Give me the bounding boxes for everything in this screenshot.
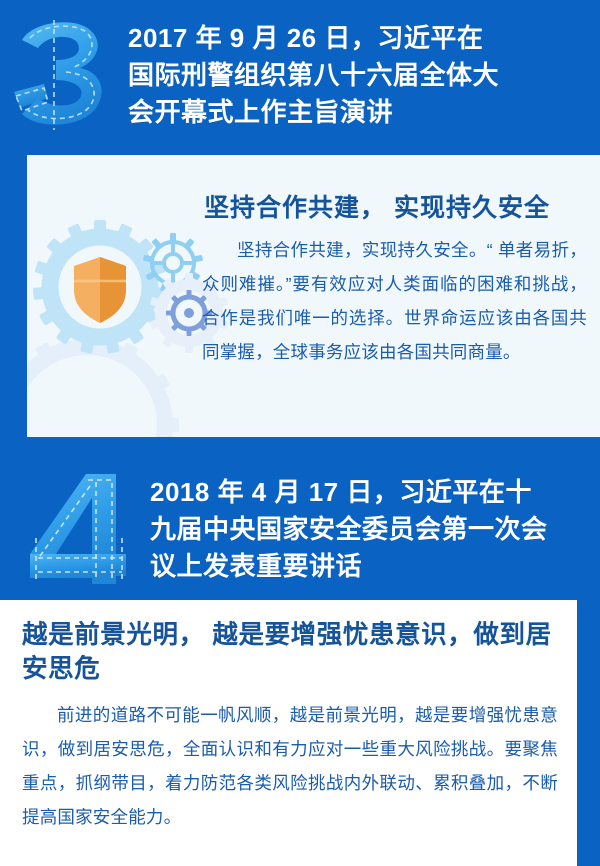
card-body-3: 坚持合作共建，实现持久安全。“ 单者易折，众则难摧。”要有效应对人类面临的困难和… xyxy=(202,233,587,370)
card-heading-4: 越是前景光明， 越是要增强忧患意识，做到居安思危 xyxy=(22,618,562,687)
shield-icon xyxy=(74,257,126,323)
large-gear-icon xyxy=(33,220,168,354)
section-title-4: 2018 年 4 月 17 日，习近平在十 九届中央国家安全委员会第一次会 议上… xyxy=(150,468,600,585)
section-title-3: 2017 年 9 月 26 日，习近平在 国际刑警组织第八十六届全体大 会开幕式… xyxy=(128,14,590,131)
infographic-page: 2017 年 9 月 26 日，习近平在 国际刑警组织第八十六届全体大 会开幕式… xyxy=(0,0,600,866)
section-header-3: 2017 年 9 月 26 日，习近平在 国际刑警组织第八十六届全体大 会开幕式… xyxy=(8,14,600,134)
card-section-3: 坚持合作共建， 实现持久安全 坚持合作共建，实现持久安全。“ 单者易折，众则难摧… xyxy=(27,155,600,437)
section-number-4 xyxy=(30,468,150,588)
small-gear-icon xyxy=(143,233,203,292)
card-section-4: 越是前景光明， 越是要增强忧患意识，做到居安思危 前进的道路不可能一帆风顺，越是… xyxy=(0,600,577,866)
section-header-4: 2018 年 4 月 17 日，习近平在十 九届中央国家安全委员会第一次会 议上… xyxy=(30,468,600,588)
card-heading-3: 坚持合作共建， 实现持久安全 xyxy=(167,188,587,224)
card-body-4: 前进的道路不可能一帆风顺，越是前景光明，越是要增强忧患意识，做到居安思危，全面认… xyxy=(22,698,558,835)
section-number-3 xyxy=(8,14,128,134)
